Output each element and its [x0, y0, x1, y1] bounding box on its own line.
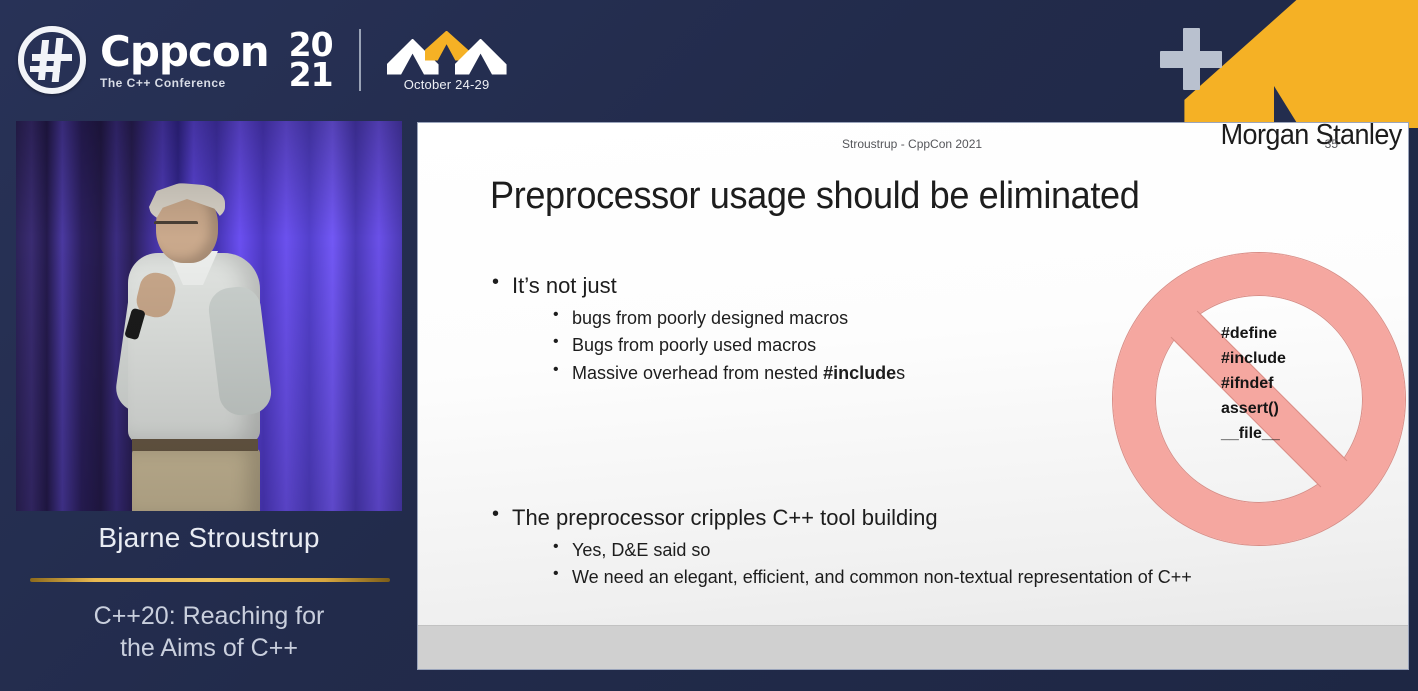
bullet-text: It’s not just [512, 273, 617, 298]
prohibition-sign-icon: #define #include #ifndef assert() __file… [1113, 253, 1405, 545]
caption-divider [30, 578, 390, 582]
sub-bullet-item: bugs from poorly designed macros [552, 305, 1130, 332]
cppcon-ring-icon [18, 26, 86, 94]
conference-year: 20 21 [289, 30, 333, 91]
speaker-video[interactable] [16, 121, 402, 511]
logo-divider [359, 29, 361, 91]
sub-bullet-list: Yes, D&E said so We need an elegant, eff… [512, 537, 1280, 592]
sub-bullet-list: bugs from poorly designed macros Bugs fr… [512, 305, 1130, 387]
bullet-text: The preprocessor cripples C++ tool build… [512, 505, 938, 530]
sub-bullet-text: We need an elegant, efficient, and commo… [572, 567, 1192, 587]
prohibited-directives-list: #define #include #ifndef assert() __file… [1221, 325, 1286, 443]
prohibited-item: assert() [1221, 400, 1286, 419]
sub-bullet-text: bugs from poorly designed macros [572, 308, 848, 328]
video-vignette [16, 121, 402, 511]
slide-canvas[interactable]: Morgan Stanley Preprocessor usage should… [417, 122, 1409, 670]
sub-bullet-text-bold: #include [823, 363, 896, 383]
plus-icon [1160, 28, 1222, 90]
sub-bullet-item: We need an elegant, efficient, and commo… [552, 564, 1280, 591]
bullet-item: It’s not just bugs from poorly designed … [490, 271, 1130, 387]
cppcon-wordmark: Cppcon The C++ Conference [100, 31, 269, 89]
morgan-stanley-logo: Morgan Stanley [1221, 122, 1402, 152]
prohibited-item: #ifndef [1221, 375, 1286, 394]
slide-footer-text: Stroustrup - CppCon 2021 [842, 137, 982, 151]
presentation-stage: Cppcon The C++ Conference 20 21 October … [0, 0, 1418, 691]
cppcon-name: Cppcon [100, 31, 269, 73]
bullet-list-top: It’s not just bugs from poorly designed … [490, 271, 1130, 391]
yellow-corner-accent [1098, 0, 1418, 128]
mountain-chevrons-icon [387, 29, 507, 75]
conference-date: October 24-29 [404, 77, 490, 92]
talk-title: C++20: Reaching for the Aims of C++ [0, 600, 418, 664]
slide-footer [418, 625, 1408, 669]
sub-bullet-text-post: s [896, 363, 905, 383]
sub-bullet-item: Bugs from poorly used macros [552, 332, 1130, 359]
year-bottom: 21 [289, 60, 333, 90]
speaker-name: Bjarne Stroustrup [0, 522, 418, 554]
slide-title: Preprocessor usage should be eliminated [490, 175, 1139, 218]
cppcon-logo-bar: Cppcon The C++ Conference 20 21 October … [18, 14, 507, 106]
prohibited-item: __file__ [1221, 425, 1286, 444]
sub-bullet-text: Bugs from poorly used macros [572, 335, 816, 355]
talk-title-line2: the Aims of C++ [0, 632, 418, 664]
sub-bullet-text: Yes, D&E said so [572, 540, 710, 560]
cppcon-tagline: The C++ Conference [100, 77, 269, 89]
sub-bullet-text-pre: Massive overhead from nested [572, 363, 823, 383]
talk-title-line1: C++20: Reaching for [0, 600, 418, 632]
slide-page-number: 35 [1325, 137, 1338, 151]
prohibited-item: #define [1221, 325, 1286, 344]
sub-bullet-item: Massive overhead from nested #includes [552, 360, 1130, 387]
conference-date-block: October 24-29 [387, 29, 507, 92]
prohibited-item: #include [1221, 350, 1286, 369]
